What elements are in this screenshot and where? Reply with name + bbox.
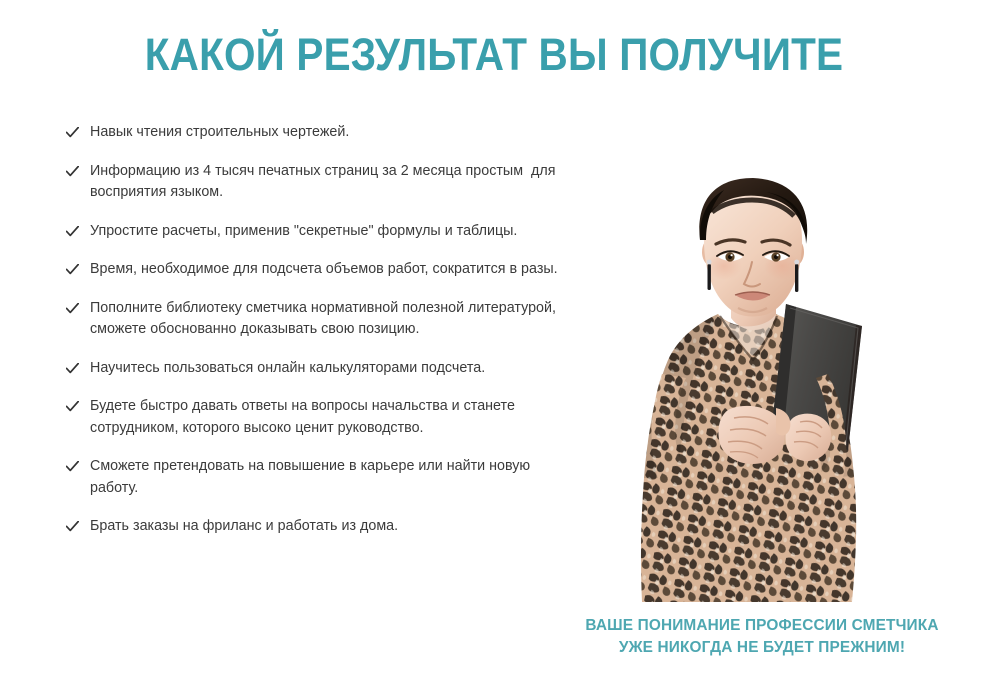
check-mark-icon [66,456,82,476]
benefit-item: Время, необходимое для подсчета объемов … [66,259,566,281]
benefit-text: Время, необходимое для подсчета объемов … [90,259,566,281]
benefit-text: Будете быстро давать ответы на вопросы н… [90,396,566,439]
benefits-list: Навык чтения строительных чертежей. Инфо… [66,122,566,538]
benefit-text: Пополните библиотеку сметчика нормативно… [90,298,566,341]
check-mark-icon [66,259,82,279]
benefit-item: Сможете претендовать на повышение в карь… [66,456,566,499]
benefit-text: Информацию из 4 тысяч печатных страниц з… [90,161,566,204]
benefit-item: Навык чтения строительных чертежей. [66,122,566,144]
benefit-text: Научитесь пользоваться онлайн калькулято… [90,358,566,380]
benefit-item: Пополните библиотеку сметчика нормативно… [66,298,566,341]
check-mark-icon [66,516,82,536]
benefit-text: Навык чтения строительных чертежей. [90,122,566,144]
benefit-text: Упростите расчеты, применив "секретные" … [90,221,566,243]
check-mark-icon [66,396,82,416]
benefit-item: Брать заказы на фриланс и работать из до… [66,516,566,538]
caption-line-1: ВАШЕ ПОНИМАНИЕ ПРОФЕССИИ СМЕТЧИКА [562,615,962,637]
benefit-item: Информацию из 4 тысяч печатных страниц з… [66,161,566,204]
woman-with-notebook-illustration [600,178,930,602]
benefit-item: Упростите расчеты, применив "секретные" … [66,221,566,243]
check-mark-icon [66,298,82,318]
check-mark-icon [66,221,82,241]
benefit-item: Будете быстро давать ответы на вопросы н… [66,396,566,439]
check-mark-icon [66,122,82,142]
check-mark-icon [66,358,82,378]
page-title: КАКОЙ РЕЗУЛЬТАТ ВЫ ПОЛУЧИТЕ [49,28,938,82]
benefit-text: Сможете претендовать на повышение в карь… [90,456,566,499]
benefit-item: Научитесь пользоваться онлайн калькулято… [66,358,566,380]
caption-line-2: УЖЕ НИКОГДА НЕ БУДЕТ ПРЕЖНИМ! [562,637,962,659]
check-mark-icon [66,161,82,181]
presenter-photo [600,178,930,602]
closing-caption: ВАШЕ ПОНИМАНИЕ ПРОФЕССИИ СМЕТЧИКА УЖЕ НИ… [562,615,962,659]
benefit-text: Брать заказы на фриланс и работать из до… [90,516,566,538]
